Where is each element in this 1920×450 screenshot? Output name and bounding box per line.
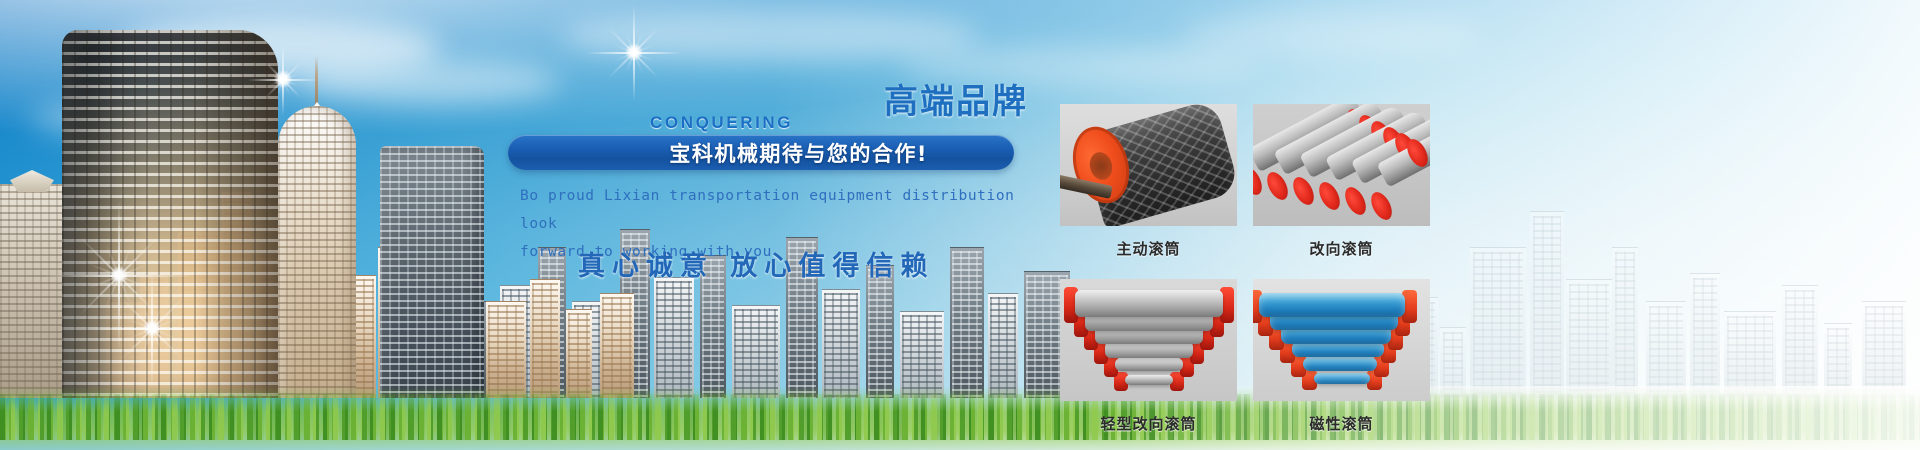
english-subtitle-line-1: Bo proud Lixian transportation equipment…: [520, 182, 1060, 238]
tagline-pill-text: 宝科机械期待与您的合作!: [669, 138, 1014, 168]
light-bend-pulley-image[interactable]: [1060, 279, 1237, 401]
product-card-drive-drum[interactable]: 主动滚筒: [1060, 104, 1237, 259]
left-building: [0, 184, 66, 398]
main-glass-tower: [62, 30, 278, 398]
spire-tower: [278, 106, 356, 398]
product-label: 轻型改向滚筒: [1060, 413, 1237, 434]
product-label: 改向滚筒: [1253, 238, 1430, 259]
grass-fade-overlay: [0, 386, 1920, 450]
product-card-bend-pulley[interactable]: 改向滚筒: [1253, 104, 1430, 259]
product-card-light-bend-pulley[interactable]: 轻型改向滚筒: [1060, 279, 1237, 434]
product-row: 主动滚筒 改向滚筒: [1060, 104, 1430, 259]
product-card-magnetic-drum[interactable]: 磁性滚筒: [1253, 279, 1430, 434]
eyebrow-text: CONQUERING: [650, 113, 793, 133]
dark-tower: [380, 146, 484, 398]
product-grid: 主动滚筒 改向滚筒 轻型改向滚筒 磁性滚筒: [1060, 104, 1430, 434]
product-row: 轻型改向滚筒 磁性滚筒: [1060, 279, 1430, 434]
brand-headline: 高端品牌: [884, 74, 1028, 123]
tagline-pill: 宝科机械期待与您的合作!: [508, 135, 1014, 170]
magnetic-drum-image[interactable]: [1253, 279, 1430, 401]
promo-banner: 高端品牌 CONQUERING 宝科机械期待与您的合作! Bo proud Li…: [0, 0, 1920, 450]
bend-pulley-image[interactable]: [1253, 104, 1430, 226]
drive-drum-image[interactable]: [1060, 104, 1237, 226]
product-label: 主动滚筒: [1060, 238, 1237, 259]
slogan-text: 真心诚意 放心值得信赖: [578, 244, 934, 283]
product-label: 磁性滚筒: [1253, 413, 1430, 434]
